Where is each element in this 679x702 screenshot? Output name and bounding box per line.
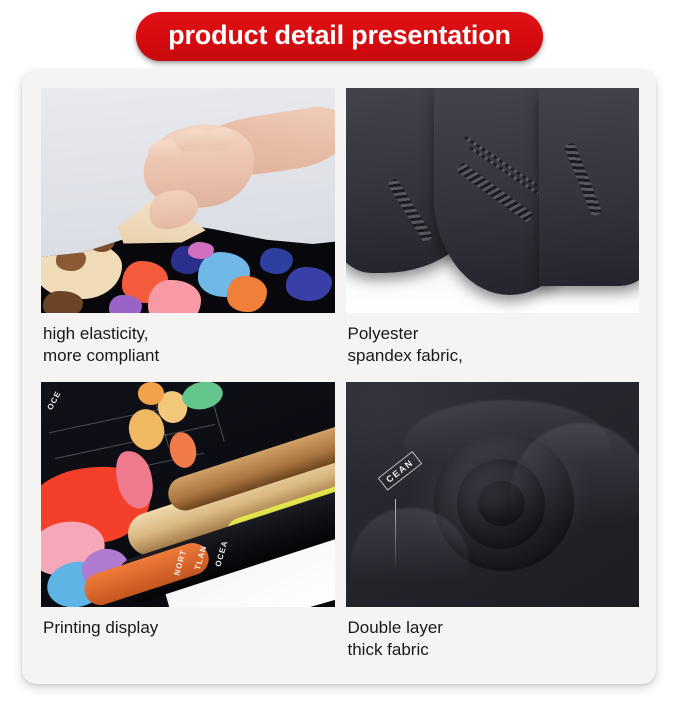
panel-caption: Double layer thick fabric [346,617,640,661]
photo-hand-peeling-map[interactable] [41,88,335,313]
detail-card: high elasticity, more compliant Polyeste… [22,70,656,684]
panel-grid: high elasticity, more compliant Polyeste… [41,88,639,668]
panel-caption: Polyester spandex fabric, [346,323,640,367]
page-title: product detail presentation [136,12,543,61]
landmass-shape [138,382,164,405]
knuckle [201,125,236,153]
panel-printing-display: OCE NORT TLAN OCEA Printing display [41,382,335,668]
photo-printed-map-rolls[interactable]: OCE NORT TLAN OCEA [41,382,335,607]
header-bar: product detail presentation [0,0,679,78]
landmass-shape [260,248,293,273]
landmass-shape [227,276,266,312]
panel-polyester-spandex: Polyester spandex fabric, [346,88,640,374]
panel-caption: Printing display [41,617,335,639]
fabric-ridge [510,423,639,572]
loose-thread [395,499,396,567]
photo-fabric-stitching[interactable] [346,88,640,313]
landmass-shape [109,295,142,313]
photo-swirled-fabric[interactable]: CEAN [346,382,640,607]
panel-caption: high elasticity, more compliant [41,323,335,367]
landmass-shape [188,242,214,259]
landmass-shape [43,291,82,313]
landmass-shape [148,280,201,313]
hand [135,97,329,223]
panel-high-elasticity: high elasticity, more compliant [41,88,335,374]
landmass-shape [286,267,332,301]
panel-double-layer: CEAN Double layer thick fabric [346,382,640,668]
fabric-ridge [351,508,468,607]
